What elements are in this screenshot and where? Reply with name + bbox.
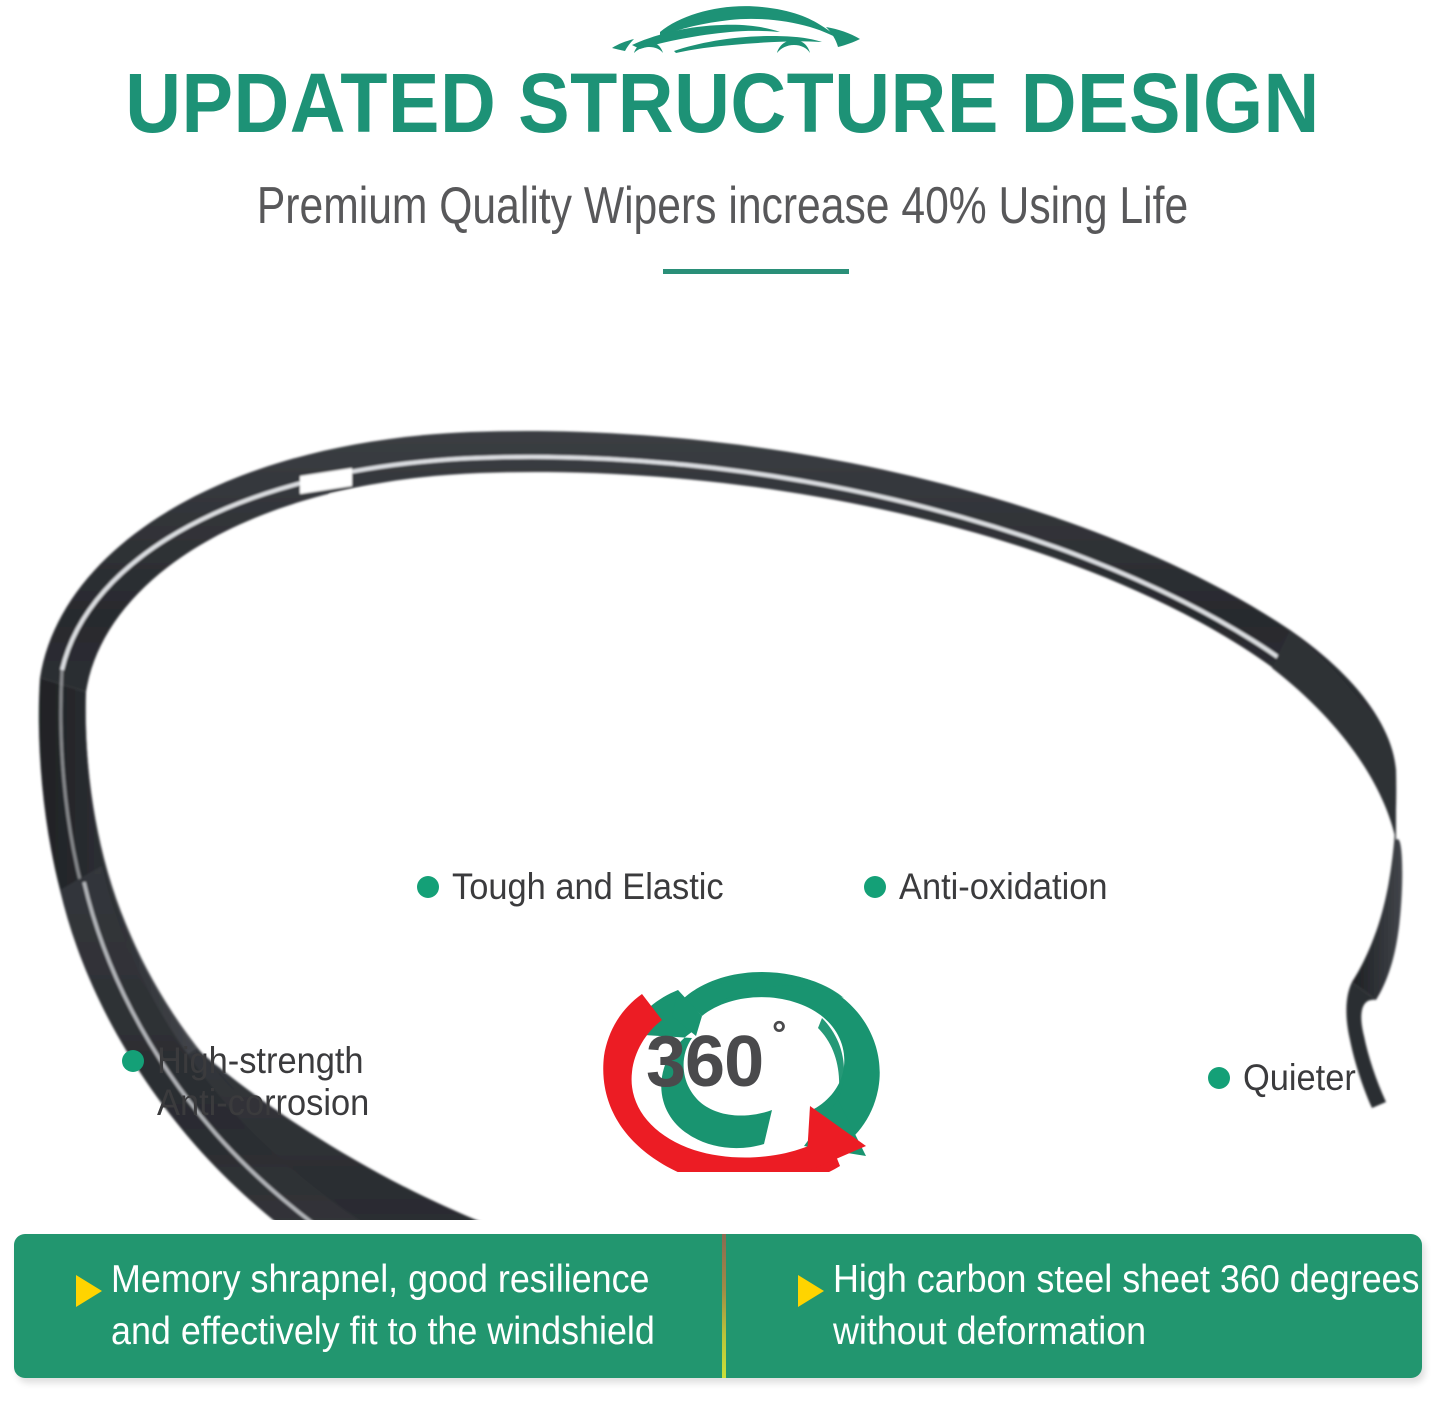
feature-line-1: High carbon steel sheet 360 degrees [833, 1254, 1419, 1306]
feature-banner-item-memory-shrapnel: Memory shrapnel, good resilience and eff… [14, 1234, 722, 1378]
triangle-right-icon [76, 1275, 102, 1307]
product-image-area: 360 ° Tough and Elastic Anti-oxidation H… [0, 300, 1445, 1220]
feature-line-1: Memory shrapnel, good resilience [111, 1254, 655, 1306]
rotation-360-icon: 360 ° [566, 960, 916, 1172]
callout-label: Anti-oxidation [899, 866, 1107, 908]
callout-bullet-icon [864, 876, 886, 898]
badge-degree: ° [772, 1013, 786, 1054]
callout-label: Tough and Elastic [452, 866, 724, 908]
callout-label-block: High-strength Anti-corrosion [157, 1040, 369, 1124]
triangle-right-icon [798, 1275, 824, 1307]
header-section: UPDATED STRUCTURE DESIGN Premium Quality… [0, 0, 1445, 300]
feature-line-2: and effectively fit to the windshield [111, 1306, 655, 1358]
callout-tough-and-elastic: Tough and Elastic [417, 866, 744, 908]
feature-banner: Memory shrapnel, good resilience and eff… [14, 1234, 1422, 1378]
callout-high-strength-anti-corrosion: High-strength Anti-corrosion [122, 1040, 385, 1124]
badge-value: 360 [646, 1022, 763, 1102]
car-silhouette-icon [596, 4, 878, 56]
callout-bullet-icon [1208, 1067, 1230, 1089]
callout-quieter: Quieter [1208, 1057, 1364, 1099]
callout-bullet-icon [417, 876, 439, 898]
feature-text-block: High carbon steel sheet 360 degrees with… [833, 1254, 1419, 1358]
title-divider [663, 269, 849, 274]
callout-anti-oxidation: Anti-oxidation [864, 866, 1123, 908]
callout-label: High-strength [157, 1040, 369, 1082]
callout-label: Quieter [1243, 1057, 1356, 1099]
feature-banner-item-high-carbon-steel: High carbon steel sheet 360 degrees with… [726, 1234, 1422, 1378]
page-subtitle: Premium Quality Wipers increase 40% Usin… [130, 176, 1315, 236]
callout-bullet-icon [122, 1050, 144, 1072]
feature-line-2: without deformation [833, 1306, 1419, 1358]
callout-label-second-line: Anti-corrosion [157, 1082, 369, 1124]
page-title: UPDATED STRUCTURE DESIGN [58, 58, 1387, 148]
feature-text-block: Memory shrapnel, good resilience and eff… [111, 1254, 655, 1358]
